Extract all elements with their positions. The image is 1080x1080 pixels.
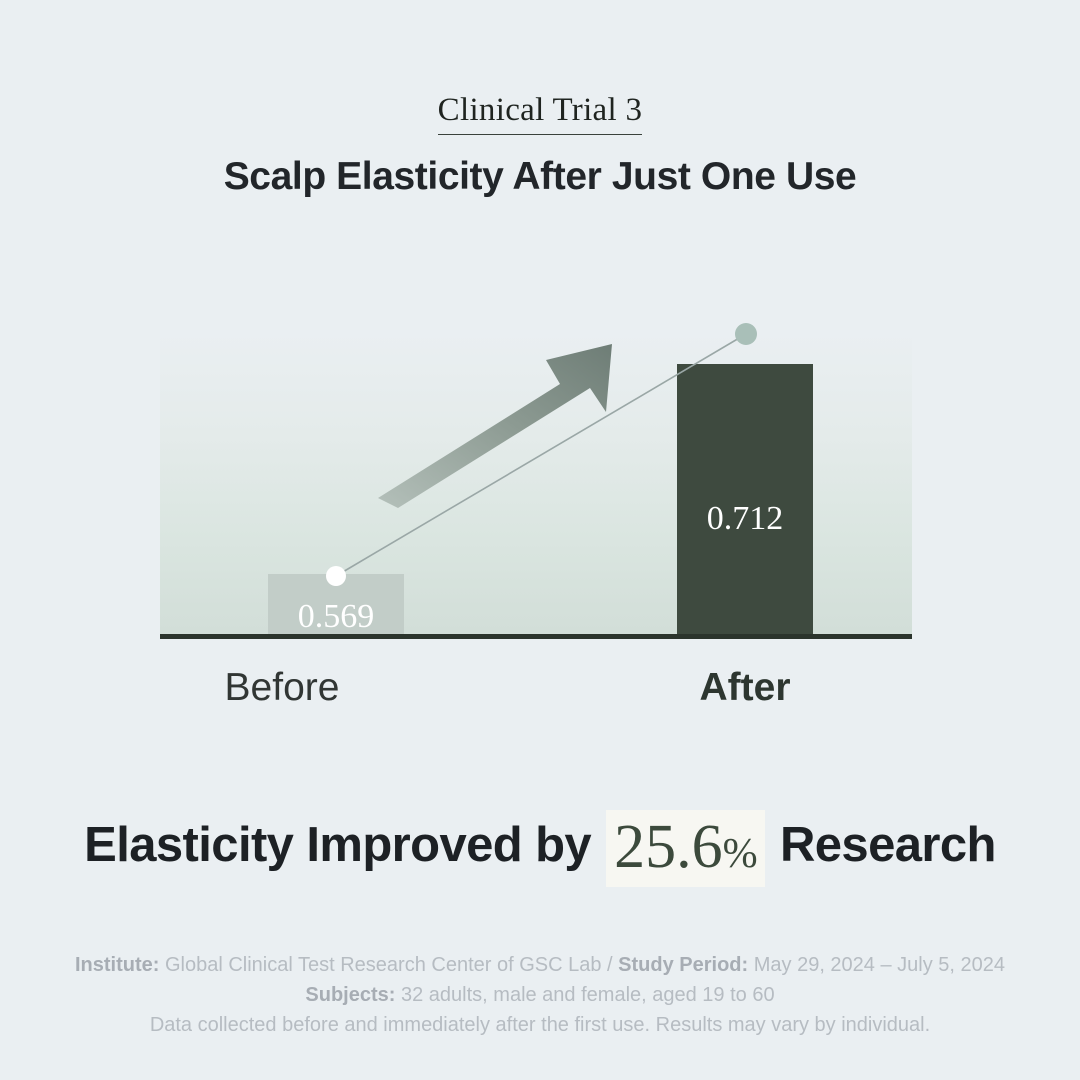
footnote-institute-label: Institute: <box>75 954 159 976</box>
footnotes: Institute: Global Clinical Test Research… <box>0 950 1080 1040</box>
x-axis-label-before: Before <box>160 666 404 710</box>
footnote-line-3: Data collected before and immediately af… <box>0 1010 1080 1040</box>
footnote-period-label: Study Period: <box>618 954 748 976</box>
data-point-before-dot <box>326 566 346 586</box>
trend-arrow-icon <box>378 344 612 508</box>
footnote-line-2: Subjects: 32 adults, male and female, ag… <box>0 980 1080 1010</box>
callout-highlight: 25.6% <box>606 810 765 887</box>
footnote-period-value: May 29, 2024 – July 5, 2024 <box>748 954 1005 976</box>
footnote-subjects-value: 32 adults, male and female, aged 19 to 6… <box>395 984 774 1006</box>
page-title: Scalp Elasticity After Just One Use <box>0 155 1080 199</box>
footnote-subjects-label: Subjects: <box>305 984 395 1006</box>
chart-overlay-graphics <box>160 330 912 639</box>
bar-chart: 0.569 0.712 <box>160 330 912 638</box>
callout-percent: % <box>723 831 757 877</box>
connector-line <box>336 334 746 576</box>
result-callout: Elasticity Improved by 25.6% Research <box>0 810 1080 887</box>
callout-value: 25.6 <box>614 813 723 881</box>
footnote-institute-value: Global Clinical Test Research Center of … <box>159 954 618 976</box>
eyebrow-label: Clinical Trial 3 <box>0 92 1080 135</box>
callout-suffix: Research <box>767 818 996 872</box>
footnote-line-1: Institute: Global Clinical Test Research… <box>0 950 1080 980</box>
callout-prefix: Elasticity Improved by <box>84 818 604 872</box>
data-point-after-dot <box>735 323 757 345</box>
eyebrow-text: Clinical Trial 3 <box>438 92 643 135</box>
chart-baseline-axis <box>160 634 912 639</box>
x-axis-label-after: After <box>677 666 813 710</box>
